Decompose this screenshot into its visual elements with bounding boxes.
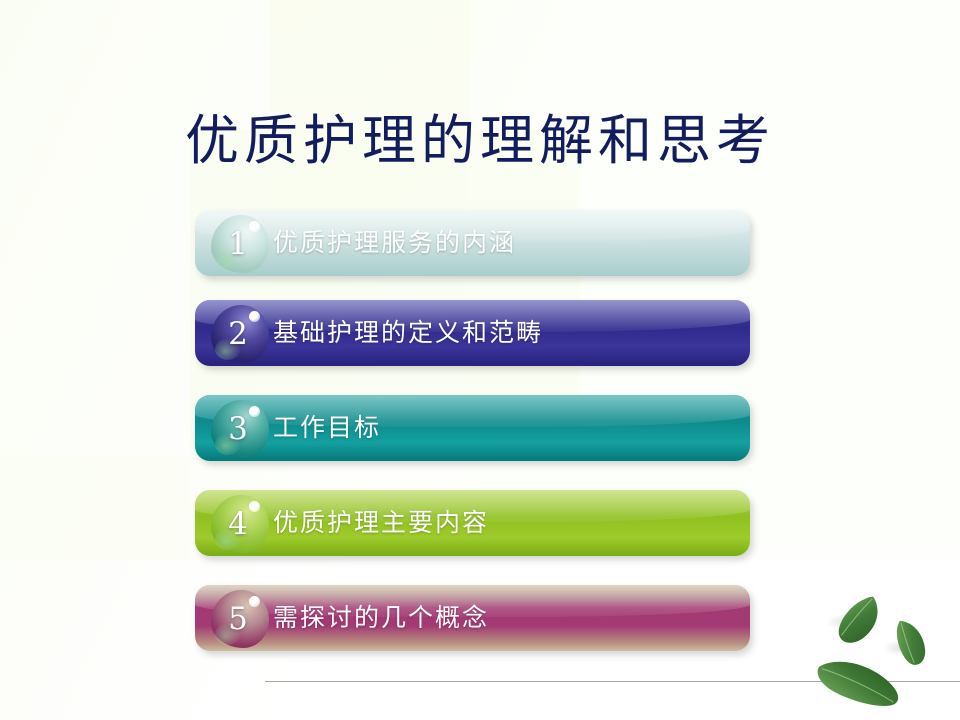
agenda-item-3[interactable]: 3 工作目标 bbox=[195, 395, 750, 461]
droplet-badge-icon: 1 bbox=[211, 215, 269, 273]
agenda-item-5-label: 需探讨的几个概念 bbox=[273, 585, 489, 651]
agenda-item-2-number: 2 bbox=[211, 305, 269, 363]
droplet-badge-icon: 5 bbox=[211, 590, 269, 648]
agenda-item-1[interactable]: 1 优质护理服务的内涵 bbox=[195, 210, 750, 276]
agenda-item-5[interactable]: 5 需探讨的几个概念 bbox=[195, 585, 750, 651]
droplet-badge-icon: 3 bbox=[211, 400, 269, 458]
agenda-item-3-number: 3 bbox=[211, 400, 269, 458]
agenda-item-2[interactable]: 2 基础护理的定义和范畴 bbox=[195, 300, 750, 366]
slide-canvas: 优质护理的理解和思考 1 优质护理服务的内涵 2 基础护理的定义和范畴 bbox=[0, 0, 960, 720]
droplet-highlight-icon bbox=[249, 311, 260, 322]
agenda-item-2-label: 基础护理的定义和范畴 bbox=[273, 300, 543, 366]
droplet-badge-icon: 4 bbox=[211, 495, 269, 553]
agenda-item-1-number: 1 bbox=[211, 215, 269, 273]
agenda-item-4[interactable]: 4 优质护理主要内容 bbox=[195, 490, 750, 556]
agenda-item-4-label: 优质护理主要内容 bbox=[273, 490, 489, 556]
agenda-item-1-label: 优质护理服务的内涵 bbox=[273, 210, 516, 276]
droplet-badge-icon: 2 bbox=[211, 305, 269, 363]
leaves-decoration-icon bbox=[800, 590, 960, 710]
page-title: 优质护理的理解和思考 bbox=[0, 96, 960, 175]
agenda-item-3-label: 工作目标 bbox=[273, 395, 381, 461]
droplet-highlight-icon bbox=[249, 596, 260, 607]
agenda-item-4-number: 4 bbox=[211, 495, 269, 553]
background-block-mid-left bbox=[0, 455, 190, 565]
droplet-highlight-icon bbox=[249, 221, 260, 232]
droplet-highlight-icon bbox=[249, 406, 260, 417]
droplet-highlight-icon bbox=[249, 501, 260, 512]
agenda-item-5-number: 5 bbox=[211, 590, 269, 648]
